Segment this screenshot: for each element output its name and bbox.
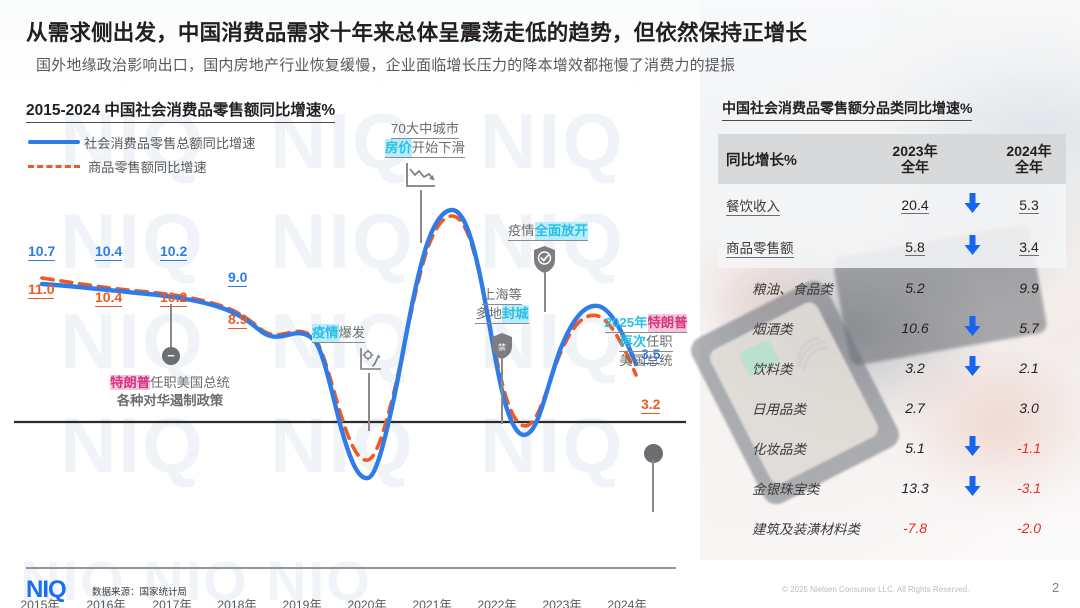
value-label-orange-2015: 11.0 — [28, 282, 54, 299]
trump-second-term-stem — [652, 460, 654, 512]
trend-down-icon — [952, 348, 992, 388]
row-category: 餐饮收入 — [718, 184, 878, 226]
row-category: 化妆品类 — [718, 428, 878, 468]
table-row[interactable]: 日用品类 2.7 3.0 — [718, 388, 1066, 428]
row-value-2023: 20.4 — [878, 184, 952, 226]
row-category: 商品零售额 — [718, 226, 878, 268]
trend-none — [952, 388, 992, 428]
column-header-category: 同比增长% — [718, 134, 878, 184]
trump-first-term-stem — [170, 304, 172, 348]
annotation-text: 疫情 — [508, 222, 535, 241]
trend-down-icon — [952, 184, 992, 226]
svg-text:禁: 禁 — [498, 343, 506, 352]
x-axis-label-2021: 2021年 — [402, 595, 462, 608]
table-row[interactable]: 饮料类 3.2 2.1 — [718, 348, 1066, 388]
x-axis-label-2023: 2023年 — [532, 595, 592, 608]
column-header-2024-line1: 2024年 — [992, 143, 1066, 159]
table-row[interactable]: 餐饮收入 20.4 5.3 — [718, 184, 1066, 226]
category-growth-table: 同比增长% 2023年 全年 2024年 全年 餐饮收入 20.4 5.3 — [718, 134, 1066, 548]
page-number: 2 — [1052, 580, 1059, 595]
row-value-2023: 13.3 — [878, 468, 952, 508]
x-axis-label-2019: 2019年 — [272, 595, 332, 608]
row-category: 金银珠宝类 — [718, 468, 878, 508]
value-label-orange-2017: 10.2 — [160, 290, 187, 307]
row-value-2023: 2.7 — [878, 388, 952, 428]
row-value-2024: -1.1 — [992, 428, 1066, 468]
chart-panel: 2015-2024 中国社会消费品零售额同比增速% 社会消费品零售总额同比增速 … — [0, 92, 700, 552]
annotation-text: 任职美国总统 — [150, 375, 230, 390]
housing-price-stem — [420, 190, 422, 243]
annotation-text: 多地 — [475, 305, 502, 324]
annotation-text: 70大中城市 — [391, 120, 459, 139]
value-label-orange-2024: 3.2 — [641, 397, 660, 414]
table-row[interactable]: 粮油、食品类 5.2 9.9 — [718, 268, 1066, 308]
value-label-blue-2018: 9.0 — [228, 270, 247, 287]
row-value-2024: 2.1 — [992, 348, 1066, 388]
annotation-housing-price: 70大中城市 房价开始下滑 — [340, 120, 510, 158]
annotation-highlight: 房价 — [385, 139, 412, 158]
annotation-covid-reopen: 疫情全面放开 — [508, 222, 638, 241]
annotation-trump-first-term: 特朗普任职美国总统 各种对华遏制政策 — [55, 374, 285, 410]
annotation-text: 美国总统 — [619, 353, 672, 368]
row-value-2023: 3.2 — [878, 348, 952, 388]
row-value-2024: 5.3 — [992, 184, 1066, 226]
column-header-2024-line2: 全年 — [992, 159, 1066, 175]
row-value-2023: 10.6 — [878, 308, 952, 348]
table-title: 中国社会消费品零售额分品类同比增速% — [722, 98, 972, 121]
annotation-highlight: 特朗普 — [110, 375, 150, 390]
trend-none — [952, 268, 992, 308]
slide-root: NIQ NIQ NIQ NIQ NIQ NIQ NIQ NIQ NIQ NIQ … — [0, 0, 1080, 608]
row-value-2024: 3.0 — [992, 388, 1066, 428]
table-panel: 中国社会消费品零售额分品类同比增速% 同比增长% 2023年 全年 2024年 … — [700, 92, 1080, 552]
value-label-orange-2016: 10.4 — [95, 290, 122, 307]
annotation-text: 上海等 — [482, 286, 522, 305]
shield-check-icon — [532, 245, 557, 274]
annotation-trump-second-term: 2025年特朗普 再次任职 美国总统 — [592, 314, 700, 370]
annotation-text: 任职 — [646, 333, 673, 352]
row-category: 建筑及装潢材料类 — [718, 508, 878, 548]
row-value-2024: -2.0 — [992, 508, 1066, 548]
annotation-text: 爆发 — [339, 324, 366, 343]
value-label-blue-2016: 10.4 — [95, 244, 122, 261]
annotation-text: 开始下滑 — [412, 139, 465, 158]
row-value-2023: 5.8 — [878, 226, 952, 268]
x-axis-label-2022: 2022年 — [467, 595, 527, 608]
value-label-orange-2018: 8.9 — [228, 312, 247, 329]
table-row[interactable]: 建筑及装潢材料类 -7.8 -2.0 — [718, 508, 1066, 548]
trend-down-icon — [952, 226, 992, 268]
annotation-highlight: 疫情 — [312, 324, 339, 343]
annotation-shanghai-lockdown: 上海等 多地封城 — [452, 286, 552, 324]
row-value-2023: 5.1 — [878, 428, 952, 468]
trend-down-icon — [952, 428, 992, 468]
table-row[interactable]: 烟酒类 10.6 5.7 — [718, 308, 1066, 348]
table-row[interactable]: 化妆品类 5.1 -1.1 — [718, 428, 1066, 468]
row-value-2023: -7.8 — [878, 508, 952, 548]
annotation-highlight: 全面放开 — [535, 222, 588, 241]
row-value-2024: 5.7 — [992, 308, 1066, 348]
footer-divider — [26, 567, 676, 569]
trend-down-icon — [952, 308, 992, 348]
row-category: 粮油、食品类 — [718, 268, 878, 308]
row-value-2024: 3.4 — [992, 226, 1066, 268]
trend-none — [952, 508, 992, 548]
trend-down-icon — [952, 468, 992, 508]
column-header-2023: 2023年 全年 — [878, 134, 952, 184]
row-category: 饮料类 — [718, 348, 878, 388]
shield-lock-icon: 禁 — [490, 332, 514, 360]
covid-reopen-stem — [544, 272, 546, 312]
annotation-highlight: 2025年 — [605, 314, 648, 333]
row-value-2024: -3.1 — [992, 468, 1066, 508]
minus-circle-icon: − — [162, 347, 180, 365]
page-subtitle: 国外地缘政治影响出口，国内房地产行业恢复缓慢，企业面临增长压力的降本增效都拖慢了… — [36, 54, 996, 75]
annotation-covid-outbreak: 疫情爆发 — [312, 324, 422, 343]
table-row[interactable]: 金银珠宝类 13.3 -3.1 — [718, 468, 1066, 508]
x-axis-label-2018: 2018年 — [207, 595, 267, 608]
x-axis-label-2024: 2024年 — [597, 595, 657, 608]
column-header-2023-line2: 全年 — [878, 159, 952, 175]
x-axis-label-2020: 2020年 — [337, 595, 397, 608]
annotation-highlight: 再次 — [619, 333, 646, 352]
row-value-2024: 9.9 — [992, 268, 1066, 308]
covid-outbreak-stem — [368, 373, 370, 431]
column-header-spacer — [952, 134, 992, 184]
column-header-2024: 2024年 全年 — [992, 134, 1066, 184]
value-label-blue-2017: 10.2 — [160, 244, 187, 261]
row-category: 烟酒类 — [718, 308, 878, 348]
annotation-highlight: 封城 — [502, 305, 529, 324]
page-title: 从需求侧出发，中国消费品需求十年来总体呈震荡走低的趋势，但依然保持正增长 — [26, 16, 956, 47]
footer-copyright: © 2025 Nielsen Consumer LLC. All Rights … — [782, 585, 969, 594]
declining-chart-icon — [404, 160, 438, 190]
row-category: 日用品类 — [718, 388, 878, 428]
value-label-blue-2015: 10.7 — [28, 244, 55, 261]
virus-rising-icon — [358, 345, 384, 373]
annotation-highlight: 特朗普 — [648, 314, 688, 333]
table-header-row: 同比增长% 2023年 全年 2024年 全年 — [718, 134, 1066, 184]
niq-logo: NIQ — [26, 576, 66, 604]
column-header-2023-line1: 2023年 — [878, 143, 952, 159]
footer-source: 数据来源：国家统计局 — [92, 584, 187, 598]
shanghai-lockdown-stem — [501, 358, 503, 424]
table-row[interactable]: 商品零售额 5.8 3.4 — [718, 226, 1066, 268]
annotation-text: 各种对华遏制政策 — [55, 392, 285, 410]
row-value-2023: 5.2 — [878, 268, 952, 308]
